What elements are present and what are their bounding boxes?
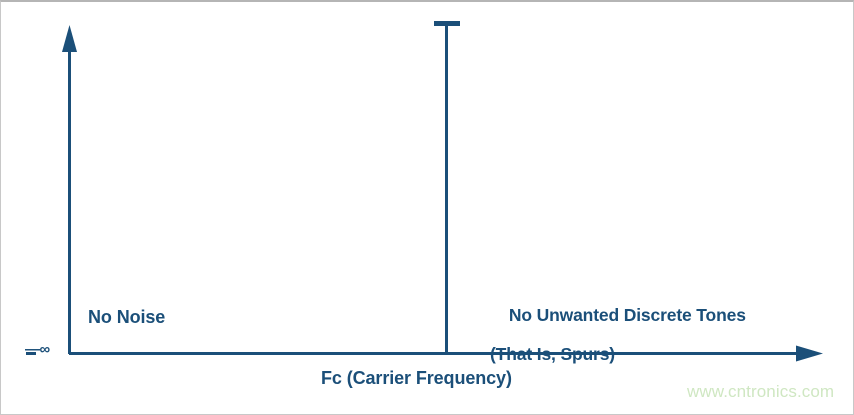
x-axis-arrow-icon <box>796 346 823 362</box>
annotation-no-noise: No Noise <box>88 307 165 327</box>
spectrum-diagram: —∞ No Noise No Unwanted Discrete Tones (… <box>0 0 854 415</box>
annotation-no-spurs-line2: (That Is, Spurs) <box>490 345 746 365</box>
annotation-no-spurs-line1: No Unwanted Discrete Tones <box>509 305 746 325</box>
x-axis-caption: Fc (Carrier Frequency) <box>321 368 512 388</box>
y-axis-arrow-icon <box>62 25 77 52</box>
site-watermark: www.cntronics.com <box>687 382 834 402</box>
y-axis-min-label: —∞ <box>25 342 50 359</box>
